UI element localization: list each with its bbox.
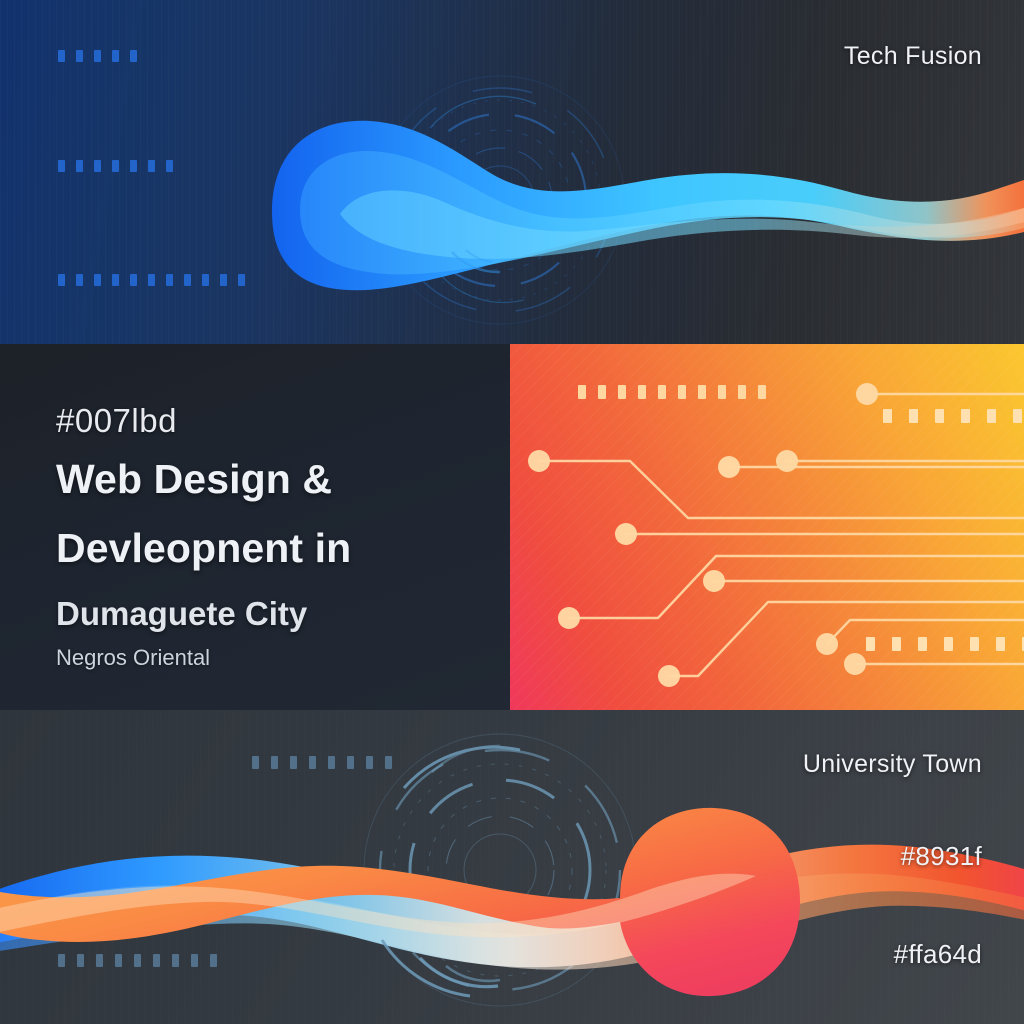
- circuit-dash-group-3: [866, 637, 1024, 651]
- province-name: Negros Oriental: [56, 647, 496, 669]
- circuit-node-10: [844, 653, 866, 675]
- hex-code-secondary: #8931f: [901, 841, 982, 872]
- title-text-block: #007lbd Web Design & Devleopnent in Duma…: [56, 404, 496, 669]
- hex-code-tertiary: #ffa64d: [894, 939, 982, 970]
- heading-line-2: Devleopnent in: [56, 528, 496, 569]
- circuit-node-4: [856, 383, 878, 405]
- hex-code-primary: #007lbd: [56, 404, 496, 437]
- circuit-dash-group-2: [883, 409, 1024, 423]
- circuit-node-2: [776, 450, 798, 472]
- dash-group-3: [58, 274, 245, 286]
- title-panel: #007lbd Web Design & Devleopnent in Duma…: [0, 344, 510, 710]
- middle-band: #007lbd Web Design & Devleopnent in Duma…: [0, 344, 1024, 710]
- circuit-node-7: [558, 607, 580, 629]
- circuit-panel: [510, 344, 1024, 710]
- circuit-node-5: [615, 523, 637, 545]
- circuit-dash-group-1: [578, 385, 766, 399]
- footer-dash-group-1: [252, 756, 392, 769]
- circuit-node-1: [528, 450, 550, 472]
- university-town-label: University Town: [803, 750, 982, 779]
- circuit-node-9: [658, 665, 680, 687]
- heading-line-1: Web Design &: [56, 459, 496, 500]
- circuit-node-8: [816, 633, 838, 655]
- tech-fusion-label: Tech Fusion: [844, 42, 982, 71]
- dash-group-2: [58, 160, 173, 172]
- circuit-node-6: [703, 570, 725, 592]
- city-name: Dumaguete City: [56, 597, 496, 630]
- dash-group-1: [58, 50, 137, 62]
- banner-canvas: #007lbd Web Design & Devleopnent in Duma…: [0, 0, 1024, 1024]
- circuit-trace-8: [569, 556, 716, 618]
- circuit-node-3: [718, 456, 740, 478]
- footer-dash-group-2: [58, 954, 217, 967]
